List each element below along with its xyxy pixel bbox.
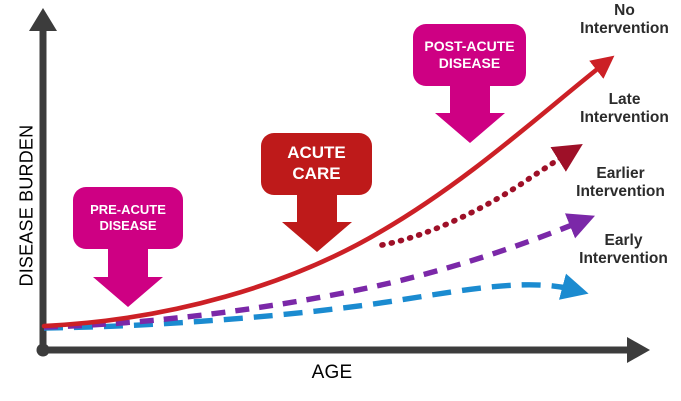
callout-post-acute-disease-label: POST-ACUTE DISEASE	[413, 24, 526, 86]
curve-label-late-intervention: Late Intervention	[568, 91, 681, 126]
diagram-canvas: DISEASE BURDEN AGE No Intervention Late …	[0, 0, 681, 401]
acute-care-callout-arrow	[282, 194, 352, 252]
curve-label-early-intervention: Early Intervention	[566, 232, 681, 267]
curve-label-earlier-intervention: Earlier Intervention	[560, 165, 681, 200]
x-axis-arrowhead	[627, 337, 650, 363]
y-axis-title: DISEASE BURDEN	[17, 127, 38, 287]
post-acute-callout-arrow	[435, 85, 505, 143]
x-axis-title: AGE	[272, 362, 392, 384]
callout-pre-acute-disease-label: PRE-ACUTE DISEASE	[73, 187, 183, 249]
y-axis-arrowhead	[29, 8, 57, 31]
callout-acute-care-label: ACUTE CARE	[261, 133, 372, 195]
axis-origin-dot	[37, 344, 50, 357]
pre-acute-callout-arrow	[93, 248, 163, 307]
curve-label-no-intervention: No Intervention	[568, 2, 681, 37]
